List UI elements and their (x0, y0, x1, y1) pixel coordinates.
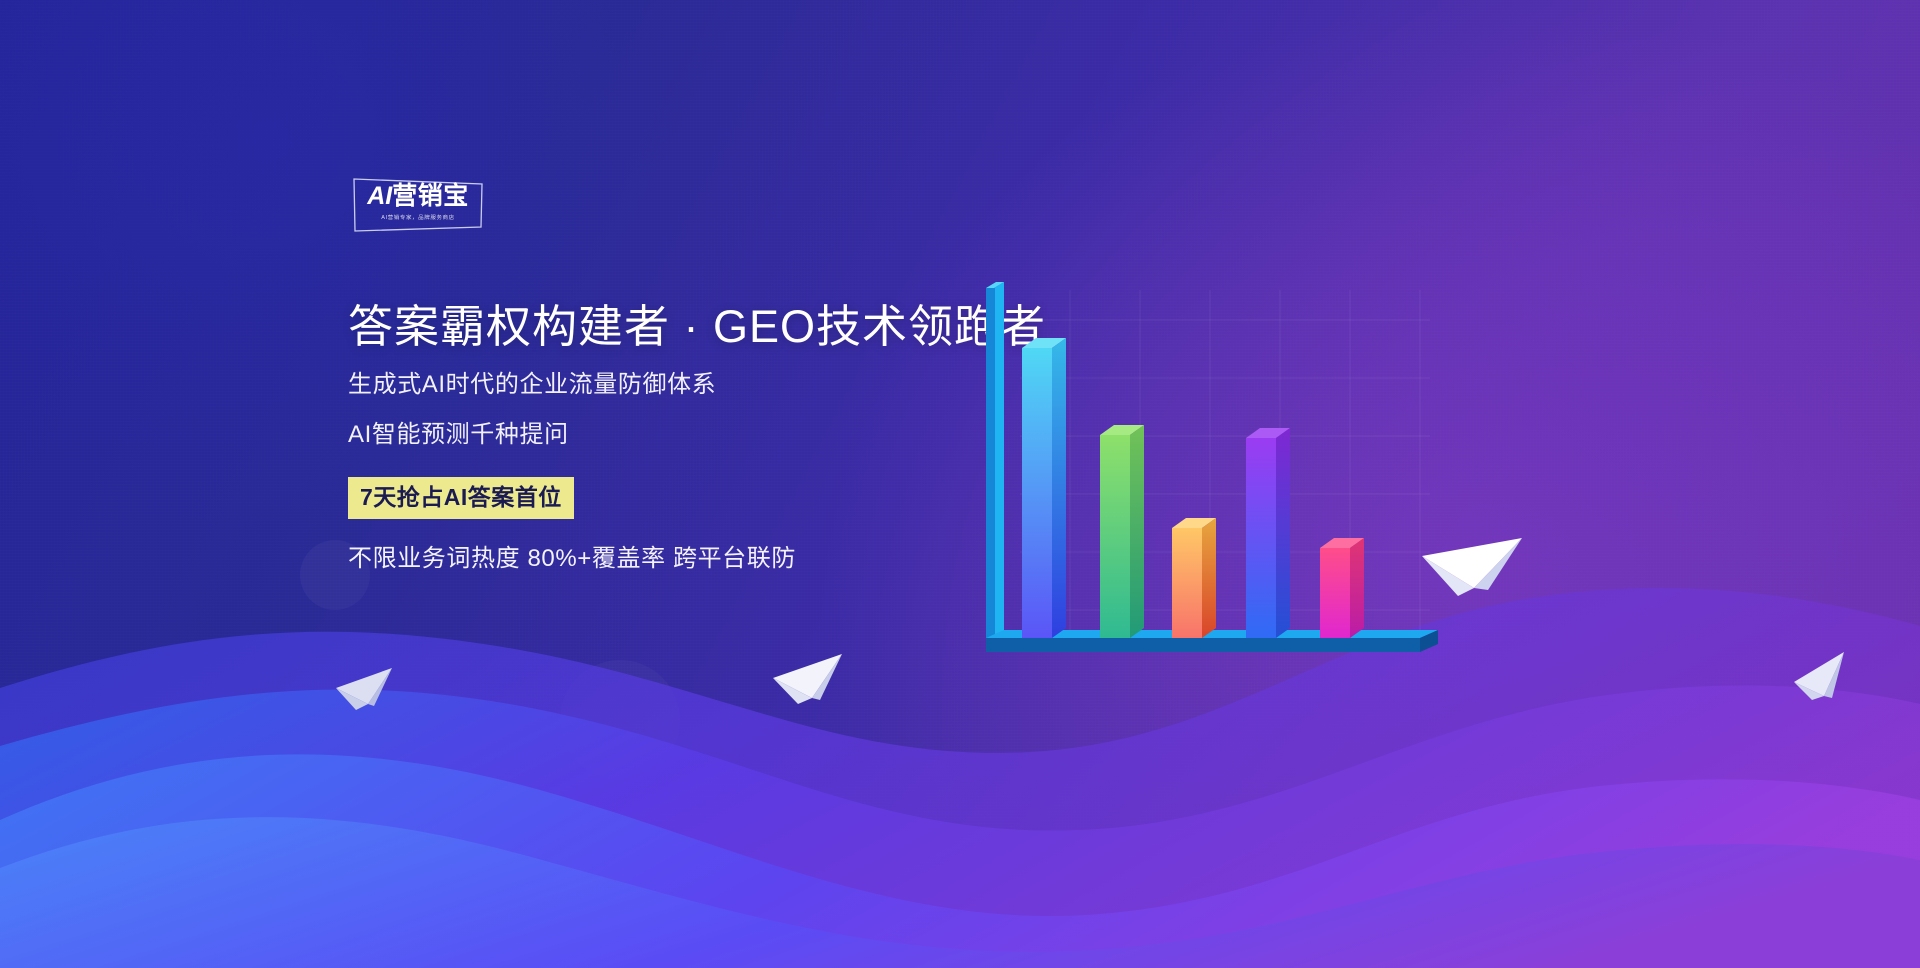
brand-logo[interactable]: AI营销宝 AI营销专家，品牌服务商店 (352, 176, 484, 234)
paper-plane-icon (334, 662, 396, 714)
hero-highlight-badge: 7天抢占AI答案首位 (348, 477, 574, 519)
chart-bar (1022, 338, 1066, 638)
chart-bar (1320, 538, 1364, 638)
logo-tagline: AI营销专家，品牌服务商店 (352, 216, 484, 221)
chart-y-axis (986, 282, 1004, 638)
bar-chart-illustration (960, 280, 1460, 700)
paper-plane-icon (770, 648, 846, 710)
chart-bar (1172, 518, 1216, 638)
chart-bar (1100, 425, 1144, 638)
logo-wordmark: AI营销宝 (352, 184, 484, 209)
paper-plane-icon (1790, 648, 1852, 704)
banner-stage: AI营销宝 AI营销专家，品牌服务商店 答案霸权构建者 · GEO技术领跑者 生… (0, 0, 1920, 968)
chart-grid (1020, 290, 1430, 636)
logo-ai-text: AI (367, 182, 392, 210)
paper-plane-icon (1418, 518, 1526, 602)
chart-bar (1246, 428, 1290, 638)
logo-cn-text: 营销宝 (392, 182, 469, 210)
